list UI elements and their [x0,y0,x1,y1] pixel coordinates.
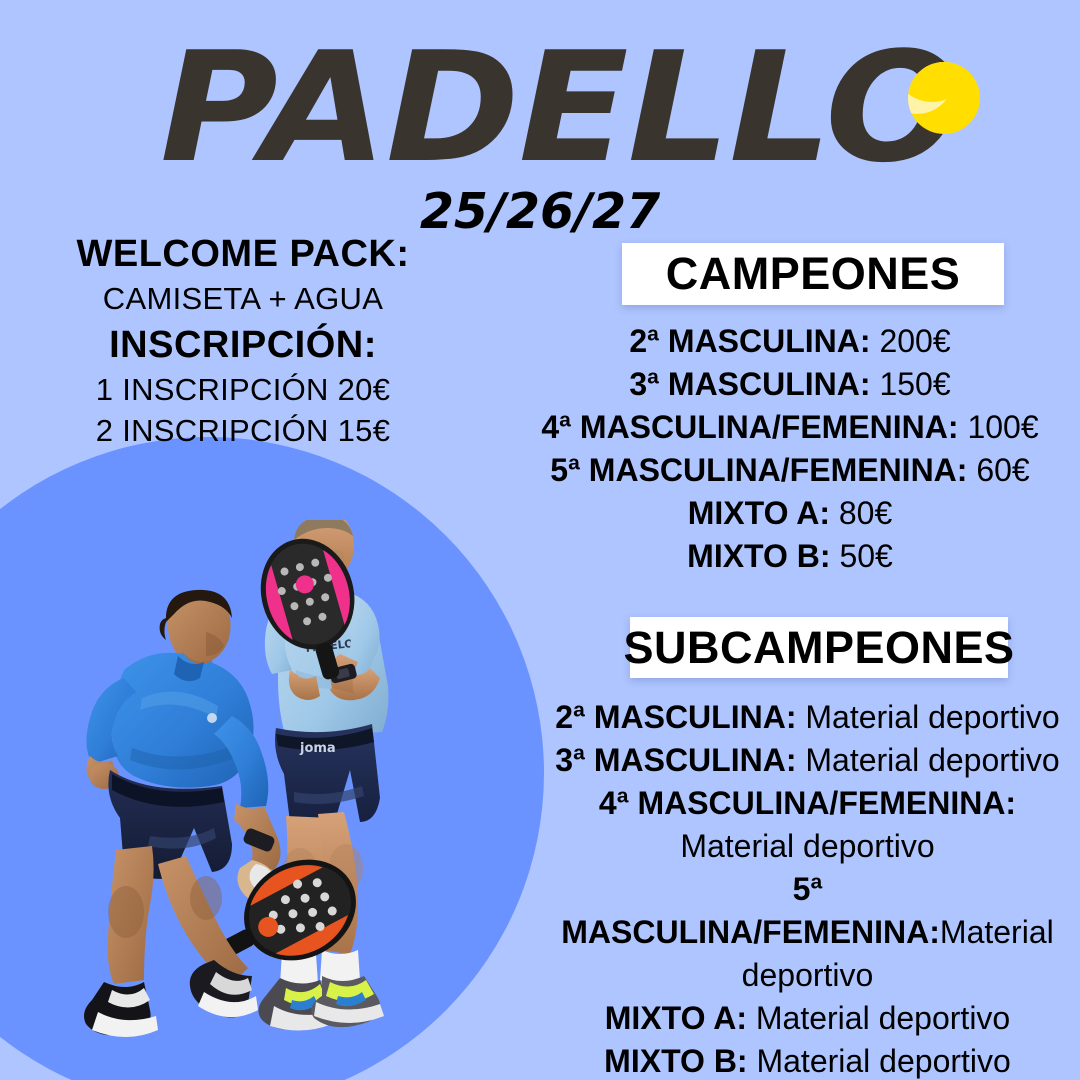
shoe-right-front [311,976,384,1027]
prize-value: Material deportivo [796,699,1059,735]
prize-category: 3ª MASCULINA: [629,366,870,402]
prize-row: MIXTO A: 80€ [520,492,1060,535]
prize-value: Material deportivo [796,742,1059,778]
padel-players-photo: PADELO [0,520,560,1080]
poster-canvas: PADELO [0,0,1080,1080]
subcampeones-heading: SUBCAMPEONES [623,622,1014,674]
prize-value: 80€ [830,495,892,531]
shoe-left-back [84,982,158,1037]
tennis-ball-icon [908,62,980,134]
prize-row: 3ª MASCULINA: 150€ [520,363,1060,406]
prize-row: 2ª MASCULINA: 200€ [520,320,1060,363]
prize-row: MIXTO B: Material deportivo [545,1040,1070,1080]
prize-row: 4ª MASCULINA/FEMENINA: 100€ [520,406,1060,449]
prize-row: 2ª MASCULINA: Material deportivo [545,696,1070,739]
subcampeones-prize-list: 2ª MASCULINA: Material deportivo 3ª MASC… [545,696,1070,1080]
welcome-pack-items: CAMISETA + AGUA [18,281,468,318]
prize-category: MIXTO A: [605,1000,747,1036]
prize-category: 2ª MASCULINA: [629,323,870,359]
prize-category: 3ª MASCULINA: [555,742,796,778]
prize-value: Material deportivo [680,828,934,864]
prize-value: 100€ [959,409,1039,445]
prize-category: 5ª MASCULINA/FEMENINA: [561,871,940,950]
prize-row: MIXTO B: 50€ [520,535,1060,578]
inscription-heading: INSCRIPCIÓN: [18,323,468,368]
subcampeones-banner: SUBCAMPEONES [630,617,1008,678]
inscription-price-2: 2 INSCRIPCIÓN 15€ [18,413,468,450]
prize-value: Material deportivo [748,1043,1011,1079]
prize-category: MIXTO A: [688,495,830,531]
prize-value: 60€ [967,452,1029,488]
prize-category: 4ª MASCULINA/FEMENINA: [541,409,958,445]
prize-value: Material deportivo [747,1000,1010,1036]
prize-category: MIXTO B: [687,538,830,574]
shoe-left-front [190,960,258,1018]
prize-value: 50€ [831,538,893,574]
prize-value: 200€ [871,323,951,359]
logo-title-block: PADELLO [0,28,1080,188]
prize-row: 5ª MASCULINA/FEMENINA: 60€ [520,449,1060,492]
page-title: PADELLO [160,28,961,188]
prize-category: 2ª MASCULINA: [555,699,796,735]
prize-row: 3ª MASCULINA: Material deportivo [545,739,1070,782]
campeones-banner: CAMPEONES [622,243,1004,305]
welcome-pack-heading: WELCOME PACK: [18,232,468,277]
prize-row: 4ª MASCULINA/FEMENINA: Material deportiv… [545,782,1070,868]
prize-value: 150€ [871,366,951,402]
svg-text:joma: joma [299,741,336,756]
prize-category: 5ª MASCULINA/FEMENINA: [550,452,967,488]
prize-row: 5ª MASCULINA/FEMENINA:Material deportivo [545,868,1070,997]
prize-category: MIXTO B: [604,1043,747,1079]
campeones-prize-list: 2ª MASCULINA: 200€ 3ª MASCULINA: 150€ 4ª… [520,320,1060,578]
welcome-pack-block: WELCOME PACK: CAMISETA + AGUA INSCRIPCIÓ… [18,232,468,449]
campeones-heading: CAMPEONES [666,248,961,300]
prize-category: 4ª MASCULINA/FEMENINA: [599,785,1016,821]
inscription-price-1: 1 INSCRIPCIÓN 20€ [18,372,468,409]
prize-row: MIXTO A: Material deportivo [545,997,1070,1040]
